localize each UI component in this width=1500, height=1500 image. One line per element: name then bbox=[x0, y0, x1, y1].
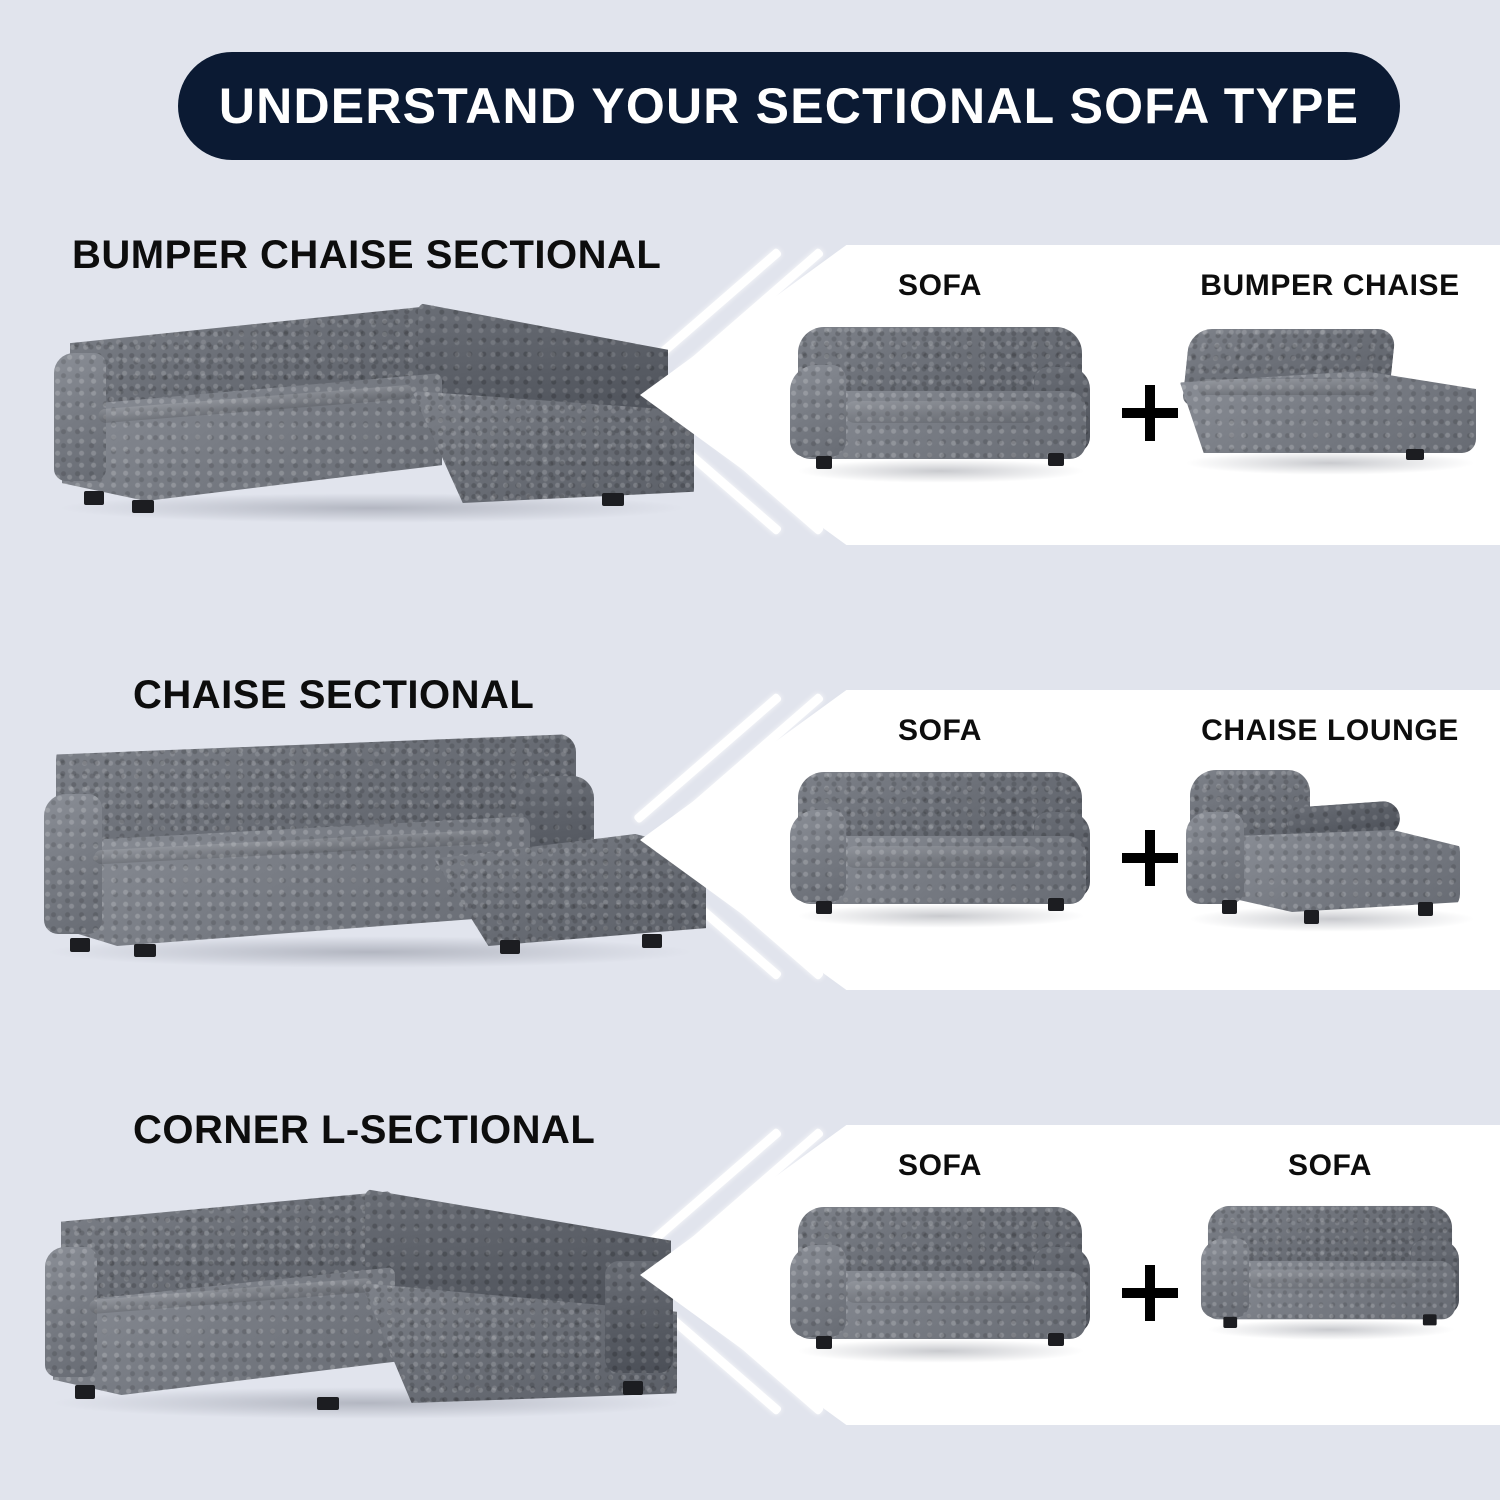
chaise-seat bbox=[1220, 830, 1460, 912]
section-title: BUMPER CHAISE SECTIONAL bbox=[72, 235, 661, 275]
component-piece-1: SOFA bbox=[790, 716, 1090, 954]
sofa-foot bbox=[816, 901, 832, 914]
piece-image-sofa bbox=[790, 764, 1090, 954]
sofa-shadow bbox=[796, 1339, 1086, 1363]
l-sectional-with-bumper-art bbox=[40, 295, 700, 525]
sofa-foot bbox=[1048, 898, 1064, 911]
chaise-arm-near bbox=[1186, 812, 1244, 904]
section-title: CHAISE SECTIONAL bbox=[133, 675, 534, 715]
sofa-foot bbox=[84, 491, 104, 505]
sofa-cushion-seam bbox=[844, 846, 1040, 868]
header-pill: UNDERSTAND YOUR SECTIONAL SOFA TYPE bbox=[178, 52, 1400, 160]
bumper-shadow bbox=[1184, 451, 1476, 475]
sofa-foot bbox=[816, 1336, 832, 1349]
sofa-foot bbox=[317, 1397, 339, 1410]
piece-label: BUMPER CHAISE bbox=[1180, 271, 1480, 301]
sofa-arm-left bbox=[44, 794, 102, 934]
sofa-shadow bbox=[796, 459, 1086, 483]
piece-label: SOFA bbox=[790, 1151, 1090, 1181]
sofa-arm-left bbox=[790, 810, 846, 902]
bumper-foot bbox=[1406, 449, 1424, 460]
sofa-foot bbox=[70, 938, 90, 952]
piece-image-sofa bbox=[790, 1199, 1090, 1389]
header: UNDERSTAND YOUR SECTIONAL SOFA TYPE bbox=[0, 0, 1500, 200]
section-chaise-sectional: CHAISE SECTIONAL SOFA bbox=[0, 640, 1500, 1080]
sofa-foot bbox=[75, 1385, 95, 1399]
piece-image-sofa bbox=[790, 319, 1090, 509]
sofa-cushion-seam bbox=[844, 401, 1040, 423]
chaise-foot bbox=[1304, 910, 1319, 924]
sofa-arm-left bbox=[45, 1247, 97, 1377]
sofa-foot bbox=[1048, 1333, 1064, 1346]
sofa-foot bbox=[602, 493, 624, 506]
corner-l-sectional-art bbox=[35, 1185, 695, 1425]
chaise-foot bbox=[1418, 902, 1433, 916]
plus-icon bbox=[1122, 830, 1178, 886]
sofa-foot bbox=[500, 940, 520, 954]
combined-sectional-image-bumper-chaise bbox=[40, 295, 700, 525]
page-title: UNDERSTAND YOUR SECTIONAL SOFA TYPE bbox=[219, 81, 1359, 131]
component-piece-2: BUMPER CHAISE bbox=[1180, 271, 1480, 509]
sofa-foot bbox=[1423, 1314, 1437, 1325]
components-panel: SOFA SOFA bbox=[640, 1125, 1500, 1425]
sofa-arm-left bbox=[790, 1245, 846, 1337]
components-panel: SOFA BUMPER CHAISE bbox=[640, 245, 1500, 545]
section-bumper-chaise-sectional: BUMPER CHAISE SECTIONAL SOFA bbox=[0, 200, 1500, 640]
bumper-seam bbox=[1197, 379, 1379, 395]
plus-icon bbox=[1122, 385, 1178, 441]
sofa-foot bbox=[816, 456, 832, 469]
sofa-foot bbox=[1223, 1317, 1237, 1328]
component-piece-2: SOFA bbox=[1180, 1151, 1480, 1389]
sofa-arm-left bbox=[790, 365, 846, 457]
piece-label: SOFA bbox=[790, 716, 1090, 746]
sofa-foot bbox=[132, 500, 154, 513]
plus-icon bbox=[1122, 1265, 1178, 1321]
chaise-foot bbox=[1222, 900, 1237, 914]
sofa-cushion-seam bbox=[844, 1281, 1040, 1303]
component-piece-1: SOFA bbox=[790, 1151, 1090, 1389]
sofa-foot bbox=[134, 944, 156, 957]
piece-label: CHAISE LOUNGE bbox=[1180, 716, 1480, 746]
sofa-arm-left bbox=[1201, 1239, 1249, 1318]
piece-image-bumper-chaise bbox=[1180, 319, 1480, 509]
sofa-foot bbox=[623, 1381, 643, 1395]
sofa-foot bbox=[1048, 453, 1064, 466]
component-piece-1: SOFA bbox=[790, 271, 1090, 509]
combined-sectional-image-chaise bbox=[30, 730, 710, 980]
section-title: CORNER L-SECTIONAL bbox=[133, 1110, 595, 1150]
piece-label: SOFA bbox=[1180, 1151, 1480, 1181]
sofa-shadow bbox=[1206, 1319, 1455, 1340]
chaise-sectional-art bbox=[30, 730, 710, 980]
piece-image-sofa bbox=[1180, 1199, 1480, 1389]
component-piece-2: CHAISE LOUNGE bbox=[1180, 716, 1480, 954]
combined-sectional-image-corner-l bbox=[35, 1185, 695, 1425]
sofa-cushion-seam bbox=[1247, 1270, 1416, 1289]
section-corner-l-sectional: CORNER L-SECTIONAL SOFA bbox=[0, 1060, 1500, 1500]
piece-image-chaise-lounge bbox=[1180, 764, 1480, 954]
sofa-foot bbox=[642, 934, 662, 948]
components-panel: SOFA CHAISE LOUNGE bbox=[640, 690, 1500, 990]
sofa-shadow bbox=[796, 904, 1086, 928]
piece-label: SOFA bbox=[790, 271, 1090, 301]
